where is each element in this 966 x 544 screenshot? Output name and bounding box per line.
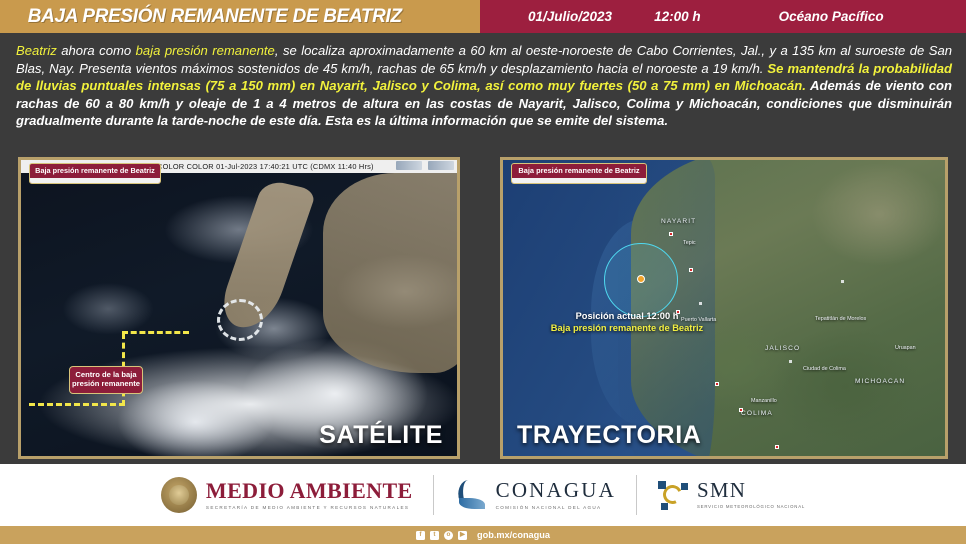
header-meta-block: 01/Julio/2023 12:00 h Océano Pacífico <box>480 0 966 33</box>
youtube-icon[interactable]: ▶ <box>458 531 467 540</box>
map-label-nayarit: NAYARIT <box>661 218 696 225</box>
coastal-marker-3 <box>689 268 693 272</box>
smn-title: SMN <box>697 480 805 501</box>
text-system-type: baja presión remanente <box>136 43 275 58</box>
twitter-icon[interactable]: t <box>430 531 439 540</box>
smn-spiral-icon <box>657 480 689 510</box>
trajectory-caption: TRAYECTORIA <box>517 421 701 450</box>
satellite-image: Centro de la baja presión remanente <box>21 173 457 456</box>
map-city-uruapan: Uruapan <box>895 345 916 351</box>
map-city-tepatitlan: Tepatitlán de Morelos <box>815 316 866 322</box>
smn-subtitle: SERVICIO METEOROLÓGICO NACIONAL <box>697 504 805 510</box>
satellite-system-label-box: Baja presión remanente de Beatriz <box>29 163 161 184</box>
header-date: 01/Julio/2023 <box>528 9 612 24</box>
satellite-caption: SATÉLITE <box>319 421 443 450</box>
current-position-marker <box>637 275 645 283</box>
advisory-text: Beatriz ahora como baja presión remanent… <box>0 33 966 136</box>
imagery-panels: GOES-16 GEOCOLOR COLOR 01-Jul-2023 17:40… <box>0 157 966 464</box>
header-basin: Océano Pacífico <box>779 9 884 24</box>
trajectory-panel[interactable]: NAYARIT JALISCO COLIMA MICHOACAN Tepic P… <box>500 157 948 459</box>
agency-logo-row: MEDIO AMBIENTE SECRETARÍA DE MEDIO AMBIE… <box>161 475 805 515</box>
coastal-marker-5 <box>739 408 743 412</box>
medio-ambiente-text: MEDIO AMBIENTE SECRETARÍA DE MEDIO AMBIE… <box>206 480 413 510</box>
header-title-block: BAJA PRESIÓN REMANENTE DE BEATRIZ <box>0 0 480 33</box>
map-point-2 <box>789 360 792 363</box>
map-point-1 <box>699 302 702 305</box>
map-label-jalisco: JALISCO <box>765 345 800 352</box>
map-city-ciudad-de-colima: Ciudad de Colima <box>803 366 846 372</box>
footer-logo-bar: MEDIO AMBIENTE SECRETARÍA DE MEDIO AMBIE… <box>0 464 966 526</box>
smn-block-1 <box>658 481 666 489</box>
coastal-marker-4 <box>715 382 719 386</box>
satellite-panel[interactable]: GOES-16 GEOCOLOR COLOR 01-Jul-2023 17:40… <box>18 157 460 459</box>
map-label-michoacan: MICHOACAN <box>855 378 905 385</box>
center-label-box: Centro de la baja presión remanente <box>69 366 143 394</box>
position-annotation-system: Baja presión remanente de Beatriz <box>517 322 737 334</box>
map-city-manzanillo: Manzanillo <box>751 398 777 404</box>
mexican-eagle-seal-icon <box>161 477 197 513</box>
medio-ambiente-logo: MEDIO AMBIENTE SECRETARÍA DE MEDIO AMBIE… <box>161 477 413 513</box>
map-city-tepic: Tepic <box>683 240 696 246</box>
conagua-subtitle: COMISIÓN NACIONAL DEL AGUA <box>496 505 616 510</box>
text-storm-name: Beatriz <box>16 43 57 58</box>
smn-block-2 <box>681 483 688 490</box>
map-point-3 <box>841 280 844 283</box>
map-label-colima: COLIMA <box>741 410 773 417</box>
satellite-agency-logos <box>396 161 454 170</box>
text-seg-2: ahora como <box>57 43 136 58</box>
text-final-notice: Esta es la última información que se emi… <box>322 113 668 128</box>
position-annotation-time: Posición actual 12:00 h <box>517 310 737 322</box>
leader-line-horizontal-lower <box>29 403 125 406</box>
smn-logo: SMN SERVICIO METEOROLÓGICO NACIONAL <box>657 480 805 510</box>
conagua-logo: CONAGUA COMISIÓN NACIONAL DEL AGUA <box>454 478 616 512</box>
coastal-marker-6 <box>775 445 779 449</box>
website-url[interactable]: gob.mx/conagua <box>477 530 550 540</box>
smn-watermark-icon <box>428 161 454 170</box>
smn-text: SMN SERVICIO METEOROLÓGICO NACIONAL <box>697 480 805 510</box>
conagua-title: CONAGUA <box>496 480 616 501</box>
trajectory-system-label-box: Baja presión remanente de Beatriz <box>511 163 647 184</box>
logo-divider-2 <box>636 475 637 515</box>
medio-ambiente-title: MEDIO AMBIENTE <box>206 480 413 502</box>
position-annotation: Posición actual 12:00 h Baja presión rem… <box>517 310 737 335</box>
coastal-marker-1 <box>669 232 673 236</box>
conagua-watermark-icon <box>396 161 422 170</box>
page-title: BAJA PRESIÓN REMANENTE DE BEATRIZ <box>28 5 402 28</box>
footer-social-bar: f t o ▶ gob.mx/conagua <box>0 526 966 544</box>
header-bar: BAJA PRESIÓN REMANENTE DE BEATRIZ 01/Jul… <box>0 0 966 33</box>
water-wave-icon <box>454 478 488 512</box>
leader-line-horizontal-upper <box>122 331 189 334</box>
smn-block-3 <box>661 503 668 510</box>
conagua-text: CONAGUA COMISIÓN NACIONAL DEL AGUA <box>496 480 616 510</box>
trajectory-map-image: NAYARIT JALISCO COLIMA MICHOACAN Tepic P… <box>503 160 945 456</box>
facebook-icon[interactable]: f <box>416 531 425 540</box>
low-pressure-circle-marker <box>217 299 263 341</box>
medio-ambiente-subtitle: SECRETARÍA DE MEDIO AMBIENTE Y RECURSOS … <box>206 505 413 510</box>
logo-divider-1 <box>433 475 434 515</box>
instagram-icon[interactable]: o <box>444 531 453 540</box>
header-time: 12:00 h <box>654 9 701 24</box>
